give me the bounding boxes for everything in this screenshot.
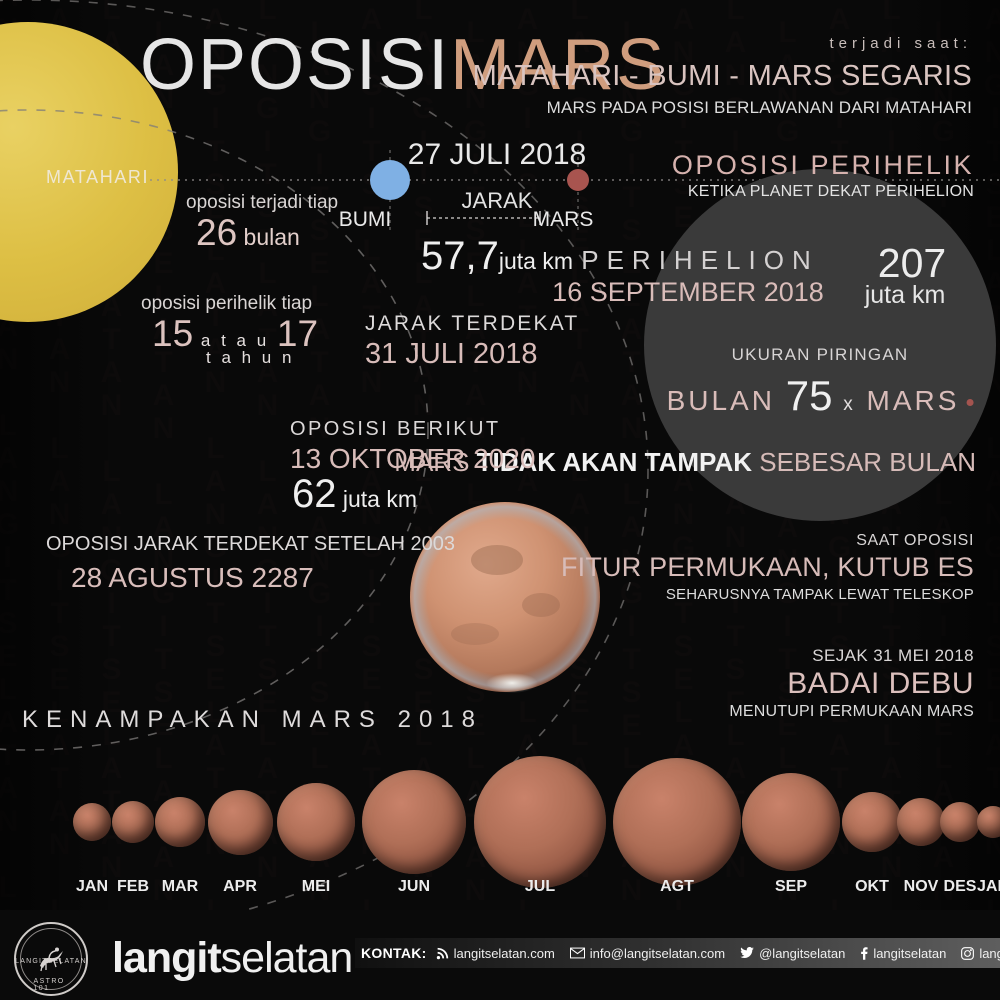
month-label: NOV xyxy=(904,878,939,896)
rss-icon xyxy=(436,947,449,960)
mars-disk-sep-8 xyxy=(742,773,840,871)
contact-text: info@langitselatan.com xyxy=(590,946,725,961)
contact-text: langitselatanmedia xyxy=(979,946,1000,961)
month-label: AGT xyxy=(660,878,694,896)
opposition-distance-value: 57,7 xyxy=(421,234,499,278)
closest-approach-label: JARAK TERDEKAT xyxy=(365,312,579,336)
dust-storm-since: SEJAK 31 MEI 2018 xyxy=(812,646,974,666)
month-label: JUN xyxy=(398,878,430,896)
mars-hero-image xyxy=(410,502,600,693)
surface-features-text: FITUR PERMUKAAN, KUTUB ES xyxy=(561,552,974,583)
earth-label: BUMI xyxy=(339,208,392,232)
mars-disk-jan-12 xyxy=(977,806,1000,838)
closest-approach-date: 31 JULI 2018 xyxy=(365,338,538,371)
ratio-mars-label: MARS xyxy=(867,385,960,416)
badge-bottom-text: ASTRO 101 xyxy=(34,978,69,992)
month-label: JAN xyxy=(76,878,108,896)
mars-disk-agt-7 xyxy=(613,758,741,886)
month-label: DES xyxy=(944,878,977,896)
mars-disk-apr-3 xyxy=(208,790,273,855)
centaur-emblem-icon xyxy=(34,946,68,972)
month-label: MEI xyxy=(302,878,330,896)
contact-item-facebook[interactable]: langitselatan xyxy=(860,946,946,961)
contact-bar: KONTAK: langitselatan.cominfo@langitsela… xyxy=(355,938,1000,968)
opposition-distance: 57,7juta km xyxy=(421,234,573,279)
contact-text: langitselatan.com xyxy=(454,946,555,961)
mars-disk-nov-10 xyxy=(897,798,945,846)
mars-disk-jul-6 xyxy=(474,756,606,888)
statement-post: SEBESAR BULAN xyxy=(752,447,976,477)
earth-dot xyxy=(370,160,410,200)
perihelic-years-a: 15 xyxy=(152,313,193,354)
wordmark-light: selatan xyxy=(221,934,353,982)
contact-items: langitselatan.cominfo@langitselatan.com@… xyxy=(436,946,1000,961)
month-label: FEB xyxy=(117,878,149,896)
perihelion-word: PERIHELION xyxy=(581,245,819,276)
instagram-icon xyxy=(961,947,974,960)
perihelic-opposition-title: OPOSISI PERIHELIK xyxy=(672,150,974,181)
perihelion-distance-unit: juta km xyxy=(865,281,946,310)
wordmark-bold: langit xyxy=(112,934,221,982)
mars-disk-jan-0 xyxy=(73,803,111,841)
next-distance-value: 62 xyxy=(292,472,337,516)
contact-item-email[interactable]: info@langitselatan.com xyxy=(570,946,725,961)
facebook-icon xyxy=(860,947,868,960)
next-distance-unit: juta km xyxy=(343,486,417,512)
mars-disk-mei-4 xyxy=(277,783,355,861)
contact-item-rss[interactable]: langitselatan.com xyxy=(436,946,555,961)
perihelic-interval-label: oposisi perihelik tiap xyxy=(141,293,312,315)
opposition-interval-label: oposisi terjadi tiap xyxy=(186,192,338,214)
mars-disk-mar-2 xyxy=(155,797,205,847)
closest-after-2003-label: OPOSISI JARAK TERDEKAT SETELAH 2003 xyxy=(46,533,455,556)
langitselatan-wordmark: langitselatan xyxy=(112,934,352,983)
email-icon xyxy=(570,947,585,959)
langitselatan-badge-logo: LANGITSELATAN ASTRO 101 xyxy=(14,922,88,996)
mars-disk-okt-9 xyxy=(842,792,902,852)
mars-disk-jun-5 xyxy=(362,770,466,874)
opposition-distance-unit: juta km xyxy=(499,248,573,274)
title-oposisi: OPOSISI xyxy=(140,25,450,105)
opposition-interval-value: 26 bulan xyxy=(196,212,300,254)
saat-oposisi-label: SAAT OPOSISI xyxy=(856,532,974,550)
perihelion-date: 16 SEPTEMBER 2018 xyxy=(552,277,824,308)
monthly-size-strip: JANFEBMARAPRMEIJUNJULAGTSEPOKTNOVDESJAN xyxy=(0,760,1000,910)
month-label: OKT xyxy=(855,878,889,896)
mars-disk-des-11 xyxy=(940,802,980,842)
mars-dot xyxy=(567,169,589,191)
month-label: MAR xyxy=(162,878,198,896)
moon-mars-ratio: BULAN 75 x MARS xyxy=(667,372,974,420)
dust-storm-note: MENUTUPI PERMUKAAN MARS xyxy=(729,703,974,721)
infographic-poster: LANGITSELATAN LANGITSELATAN LANGITSELATA… xyxy=(0,0,1000,1000)
ratio-moon-label: BULAN xyxy=(667,385,775,416)
appearance-section-heading: KENAMPAKAN MARS 2018 xyxy=(22,706,483,734)
perihelic-years-unit: t a h u n xyxy=(206,348,294,368)
disk-size-label: UKURAN PIRINGAN xyxy=(732,345,909,365)
month-label: SEP xyxy=(775,878,807,896)
dust-storm-title: BADAI DEBU xyxy=(787,667,974,701)
contact-item-twitter[interactable]: @langitselatan xyxy=(740,946,845,961)
contact-text: langitselatan xyxy=(873,946,946,961)
ratio-times: x xyxy=(843,394,856,415)
mars-label: MARS xyxy=(533,208,594,232)
twitter-icon xyxy=(740,947,754,959)
interval-months-unit: bulan xyxy=(244,224,300,250)
mars-dot-icon xyxy=(966,399,973,406)
month-label: JUL xyxy=(525,878,555,896)
perihelion-distance-value: 207 xyxy=(878,240,946,287)
month-label: APR xyxy=(223,878,257,896)
interval-months-number: 26 xyxy=(196,212,237,253)
sun-label: MATAHARI xyxy=(46,167,149,188)
terjadi-saat-label: terjadi saat: xyxy=(829,35,972,52)
telescope-note: SEHARUSNYA TAMPAK LEWAT TELESKOP xyxy=(666,586,974,603)
contact-item-instagram[interactable]: langitselatanmedia xyxy=(961,946,1000,961)
month-label: JAN xyxy=(977,878,1000,896)
ratio-value: 75 xyxy=(786,372,833,419)
alignment-statement: MATAHARI - BUMI - MARS SEGARIS xyxy=(473,60,972,93)
jarak-label: JARAK xyxy=(462,188,533,214)
mars-disk-feb-1 xyxy=(112,801,154,843)
next-opposition-distance: 62 juta km xyxy=(292,472,417,517)
kontak-label: KONTAK: xyxy=(361,945,427,961)
perihelic-opposition-subtitle: KETIKA PLANET DEKAT PERIHELION xyxy=(688,183,974,201)
next-opposition-label: OPOSISI BERIKUT xyxy=(290,418,500,441)
opposition-definition: MARS PADA POSISI BERLAWANAN DARI MATAHAR… xyxy=(547,98,972,118)
opposition-date: 27 JULI 2018 xyxy=(408,138,586,172)
contact-text: @langitselatan xyxy=(759,946,845,961)
next-opposition-date: 13 OKTOBER 2020 xyxy=(290,443,535,475)
closest-after-2003-date: 28 AGUSTUS 2287 xyxy=(71,562,314,594)
